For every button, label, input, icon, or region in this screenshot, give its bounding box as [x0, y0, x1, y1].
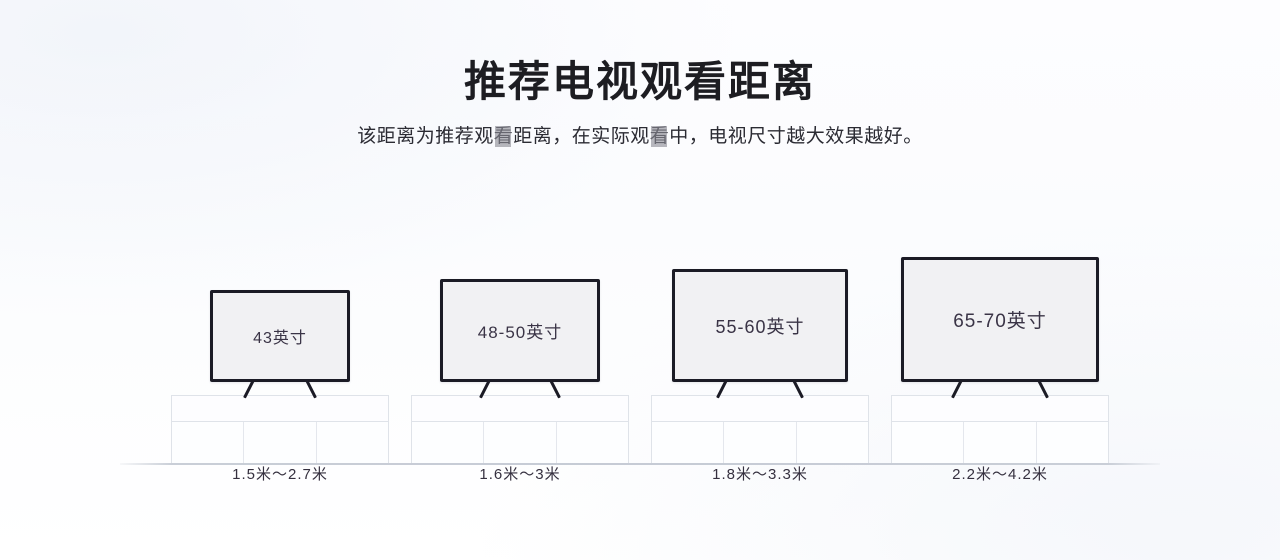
tv-size-group: 55-60英寸: [651, 205, 869, 465]
tv-cabinet: [411, 395, 629, 463]
subtitle-redacted-char: 看: [494, 124, 514, 150]
cabinet-top-drawer: [652, 396, 868, 422]
tv-cabinet: [651, 395, 869, 463]
viewing-distance-label: 1.5米～2.7米: [232, 465, 328, 485]
distance-caption-slot: 1.6米～3米: [411, 465, 629, 485]
distance-caption-slot: 1.8米～3.3米: [651, 465, 869, 485]
tv-size-label: 65-70英寸: [953, 306, 1047, 333]
subtitle-text-run: 距离，在实际观: [513, 126, 650, 147]
cabinet-compartment: [172, 422, 244, 463]
cabinet-compartment: [797, 422, 868, 463]
tv-cabinet: [171, 395, 389, 463]
subtitle-text-run: 中，电视尺寸越大效果越好。: [669, 126, 923, 147]
distance-caption-slot: 2.2米～4.2米: [891, 465, 1109, 485]
cabinet-compartment: [412, 422, 484, 463]
tv-screen: 43英寸: [210, 290, 350, 382]
cabinet-compartment: [892, 422, 964, 463]
tv-screen: 48-50英寸: [440, 279, 600, 382]
cabinet-compartment: [484, 422, 556, 463]
tv-set: 43英寸: [210, 290, 350, 382]
tv-screen: 65-70英寸: [901, 257, 1099, 382]
cabinet-compartments: [412, 422, 628, 463]
cabinet-compartments: [652, 422, 868, 463]
cabinet-compartment: [1037, 422, 1108, 463]
tv-set: 48-50英寸: [440, 279, 600, 382]
cabinet-top-drawer: [172, 396, 388, 422]
cabinet-compartment: [652, 422, 724, 463]
cabinet-compartment: [317, 422, 388, 463]
distance-caption-row: 1.5米～2.7米1.6米～3米1.8米～3.3米2.2米～4.2米: [120, 465, 1160, 505]
cabinet-compartment: [244, 422, 316, 463]
cabinet-compartment: [557, 422, 628, 463]
viewing-distance-label: 1.6米～3米: [479, 465, 560, 485]
tv-set: 55-60英寸: [672, 269, 848, 382]
tv-size-group: 65-70英寸: [891, 205, 1109, 465]
header: 推荐电视观看距离 该距离为推荐观看距离，在实际观看中，电视尺寸越大效果越好。: [0, 56, 1280, 150]
distance-caption-slot: 1.5米～2.7米: [171, 465, 389, 485]
tv-size-label: 43英寸: [253, 324, 307, 348]
tv-set: 65-70英寸: [901, 257, 1099, 382]
tv-size-group: 43英寸: [171, 205, 389, 465]
cabinet-top-drawer: [892, 396, 1108, 422]
tv-viewing-distance-infographic: 推荐电视观看距离 该距离为推荐观看距离，在实际观看中，电视尺寸越大效果越好。 4…: [0, 0, 1280, 560]
cabinet-top-drawer: [412, 396, 628, 422]
tv-size-group: 48-50英寸: [411, 205, 629, 465]
page-title: 推荐电视观看距离: [0, 56, 1280, 108]
cabinet-compartments: [892, 422, 1108, 463]
tv-size-label: 48-50英寸: [478, 318, 562, 343]
tv-size-label: 55-60英寸: [715, 313, 804, 339]
viewing-distance-label: 2.2米～4.2米: [952, 465, 1048, 485]
tv-cabinet: [891, 395, 1109, 463]
cabinet-compartment: [724, 422, 796, 463]
cabinet-compartments: [172, 422, 388, 463]
page-subtitle: 该距离为推荐观看距离，在实际观看中，电视尺寸越大效果越好。: [0, 124, 1280, 150]
cabinet-compartment: [964, 422, 1036, 463]
tv-screen: 55-60英寸: [672, 269, 848, 382]
subtitle-redacted-char: 看: [650, 124, 670, 150]
viewing-distance-label: 1.8米～3.3米: [712, 465, 808, 485]
tv-comparison-stage: 43英寸48-50英寸55-60英寸65-70英寸: [120, 205, 1160, 465]
subtitle-text-run: 该距离为推荐观: [357, 126, 494, 147]
